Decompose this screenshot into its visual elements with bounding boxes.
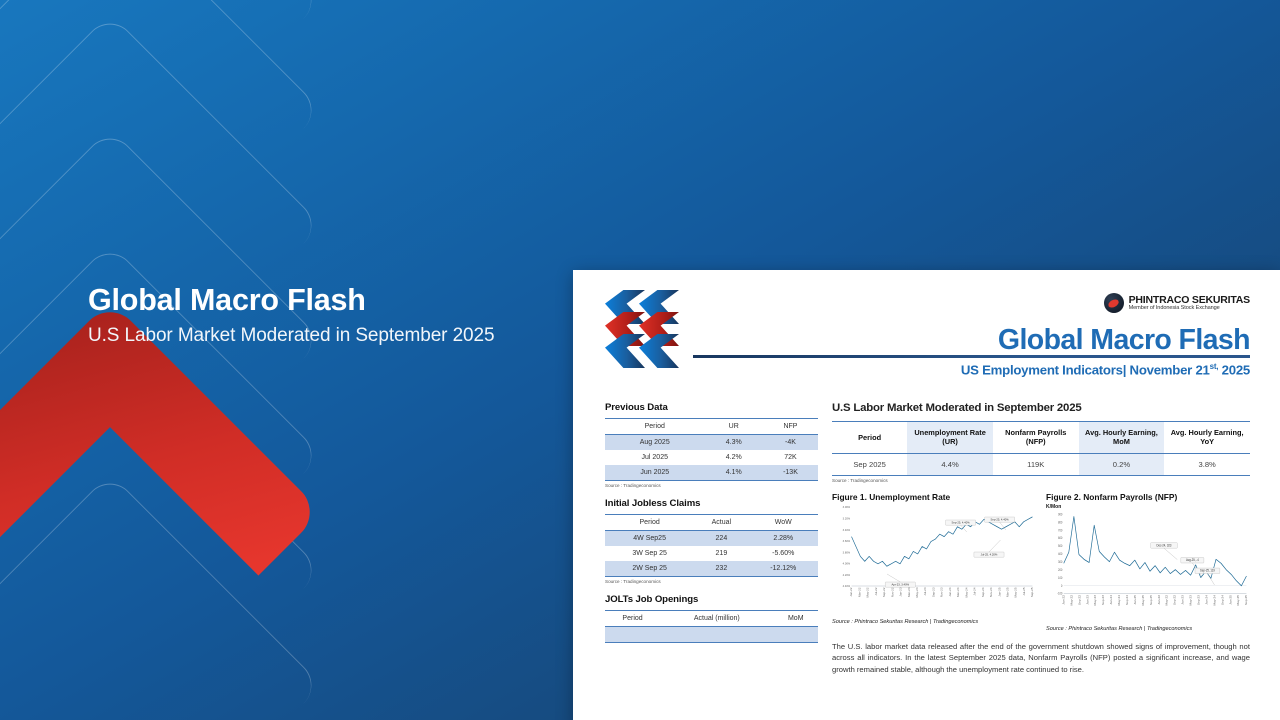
jobless-claims-title: Initial Jobless Claims	[605, 498, 818, 509]
cell: 0.2%	[1079, 453, 1165, 475]
figure-1-title: Figure 1. Unemployment Rate	[832, 492, 1036, 502]
cell: 224	[694, 531, 748, 547]
cell: 232	[694, 561, 748, 577]
svg-text:900: 900	[1058, 512, 1063, 516]
previous-data-source: Source : Tradingeconomics	[605, 483, 818, 488]
jobless-claims-source: Source : Tradingeconomics	[605, 579, 818, 584]
svg-text:May-23: May-23	[915, 587, 919, 597]
decorative-chevron-outline-2	[0, 0, 322, 322]
cell: 4.2%	[705, 450, 763, 465]
summary-table-source: Source : Tradingeconomics	[832, 478, 1250, 483]
slide-canvas: Global Macro Flash U.S Labor Market Mode…	[0, 0, 1280, 720]
svg-text:May-25: May-25	[1014, 587, 1018, 597]
svg-text:Mar-22: Mar-22	[858, 587, 862, 597]
col-header: Actual (million)	[660, 611, 773, 627]
col-header: WoW	[748, 515, 818, 531]
svg-text:May-23: May-23	[1094, 594, 1098, 605]
brand-tagline: Member of Indonesia Stock Exchange	[1129, 306, 1250, 312]
svg-text:Sep-24: Sep-24	[1221, 594, 1225, 605]
svg-text:Mar-23: Mar-23	[907, 587, 911, 597]
table-header-row: Period Unemployment Rate (UR) Nonfarm Pa…	[832, 422, 1250, 454]
cell: 3.8%	[1164, 453, 1250, 475]
cell: 219	[694, 546, 748, 561]
svg-text:Sep-23: Sep-23	[1101, 594, 1105, 605]
svg-text:4.00%: 4.00%	[843, 561, 851, 565]
svg-text:Jan-24: Jan-24	[1109, 594, 1113, 604]
jolts-title: JOLTs Job Openings	[605, 594, 818, 605]
report-headline: U.S Labor Market Moderated in September …	[832, 402, 1250, 414]
figure-1-source: Source : Phintraco Sekuritas Research | …	[832, 619, 1036, 625]
jobless-claims-table: Period Actual WoW 4W Sep252242.28% 3W Se…	[605, 514, 818, 577]
svg-text:Jul-25: Jul-25	[1022, 587, 1026, 596]
cell: -12.12%	[748, 561, 818, 577]
col-header: Nonfarm Payrolls (NFP)	[993, 422, 1079, 454]
cell: -5.60%	[748, 546, 818, 561]
col-header: NFP	[763, 419, 818, 435]
svg-text:Sep-23: Sep-23	[932, 587, 936, 597]
previous-data-table: Period UR NFP Aug 20254.3%-4K Jul 20254.…	[605, 418, 818, 481]
table-row: Jul 20254.2%72K	[605, 450, 818, 465]
svg-text:0: 0	[1061, 583, 1063, 587]
svg-text:Mar-24: Mar-24	[956, 587, 960, 597]
svg-text:Apr-23, 3.40%: Apr-23, 3.40%	[892, 582, 910, 586]
svg-text:Sep-25, 119: Sep-25, 119	[1200, 568, 1215, 572]
svg-text:Mar-25: Mar-25	[1006, 587, 1010, 597]
figure-2-source: Source : Phintraco Sekuritas Research | …	[1046, 626, 1250, 632]
svg-text:800: 800	[1058, 520, 1063, 524]
table-row: Aug 20254.3%-4K	[605, 435, 818, 451]
svg-text:Sep-24: Sep-24	[981, 587, 985, 597]
decorative-chevron-outline-6	[0, 358, 322, 720]
page-title: Global Macro Flash	[88, 283, 508, 319]
table-row: Sep 2025 4.4% 119K 0.2% 3.8%	[832, 453, 1250, 475]
document-body: Previous Data Period UR NFP Aug 20254.3%…	[605, 402, 1250, 676]
svg-text:3.80%: 3.80%	[843, 550, 851, 554]
table-row	[605, 627, 818, 643]
svg-text:Jan-23: Jan-23	[1086, 594, 1090, 604]
cell: 2.28%	[748, 531, 818, 547]
svg-text:Dec-24, 323: Dec-24, 323	[1156, 543, 1171, 547]
title-divider	[693, 355, 1250, 358]
figure-1-chart: 3.00%3.20%3.40%3.60%3.80%4.00%4.20%4.40%…	[832, 504, 1036, 616]
svg-text:4.20%: 4.20%	[843, 572, 851, 576]
svg-text:3.00%: 3.00%	[843, 505, 851, 509]
svg-text:Sep-22: Sep-22	[1078, 594, 1082, 605]
table-header-row: Period Actual (million) MoM	[605, 611, 818, 627]
cell: -4K	[763, 435, 818, 451]
cell: 72K	[763, 450, 818, 465]
svg-text:May-22: May-22	[1070, 594, 1074, 605]
right-column: U.S Labor Market Moderated in September …	[832, 402, 1250, 676]
col-header: Period	[832, 422, 907, 454]
table-header-row: Period UR NFP	[605, 419, 818, 435]
svg-text:Nov-23: Nov-23	[940, 587, 944, 597]
col-header: Period	[605, 419, 705, 435]
svg-text:Jul-22: Jul-22	[874, 587, 878, 596]
figures-row: Figure 1. Unemployment Rate 3.00%3.20%3.…	[832, 492, 1250, 632]
svg-text:Jan-22: Jan-22	[1062, 594, 1066, 604]
svg-text:May-23: May-23	[1189, 594, 1193, 605]
brand-lockup: PHINTRACO SEKURITAS Member of Indonesia …	[685, 292, 1250, 314]
summary-paragraph: The U.S. labor market data released afte…	[832, 641, 1250, 676]
svg-text:Sep-24: Sep-24	[1125, 594, 1129, 605]
cell: Sep 2025	[832, 453, 907, 475]
phintraco-chevron-logo-icon	[605, 290, 681, 370]
svg-text:Jan-22: Jan-22	[1157, 594, 1161, 604]
cell: 119K	[993, 453, 1079, 475]
col-header: UR	[705, 419, 763, 435]
cell	[774, 627, 818, 643]
decorative-chevron-outline-7	[0, 473, 322, 720]
svg-text:Sep-23: Sep-23	[1197, 594, 1201, 605]
svg-text:May-25: May-25	[1141, 594, 1145, 605]
document-title: Global Macro Flash	[685, 326, 1250, 355]
cell	[605, 627, 660, 643]
svg-text:300: 300	[1058, 559, 1063, 563]
cell: -13K	[763, 465, 818, 481]
document-subtitle-year: 2025	[1222, 362, 1250, 377]
left-column: Previous Data Period UR NFP Aug 20254.3%…	[605, 402, 818, 676]
svg-text:Sep-25, 4.40%: Sep-25, 4.40%	[991, 517, 1010, 521]
svg-text:100: 100	[1058, 575, 1063, 579]
document-subtitle-prefix: US Employment Indicators| November 21	[961, 362, 1210, 377]
jolts-table: Period Actual (million) MoM	[605, 610, 818, 643]
table-row: 2W Sep 25232-12.12%	[605, 561, 818, 577]
svg-text:3.40%: 3.40%	[843, 527, 851, 531]
svg-text:Jan-25: Jan-25	[1229, 594, 1233, 604]
svg-text:May-22: May-22	[866, 587, 870, 597]
table-row: 4W Sep252242.28%	[605, 531, 818, 547]
svg-text:3.60%: 3.60%	[843, 538, 851, 542]
svg-text:May-24: May-24	[965, 587, 969, 597]
col-header: Period	[605, 611, 660, 627]
svg-text:Jul-23: Jul-23	[923, 587, 927, 596]
page-subtitle: U.S Labor Market Moderated in September …	[88, 323, 508, 350]
svg-text:Sep-25, 4.40%: Sep-25, 4.40%	[952, 520, 971, 524]
col-header: Avg. Hourly Earning, YoY	[1164, 422, 1250, 454]
cell: Aug 2025	[605, 435, 705, 451]
cell: Jul 2025	[605, 450, 705, 465]
svg-text:Aug-25, -4: Aug-25, -4	[1186, 557, 1199, 561]
decorative-chevron-outline-1	[0, 0, 322, 212]
svg-text:Jul-24: Jul-24	[973, 587, 977, 596]
svg-text:May-24: May-24	[1213, 594, 1217, 605]
document-subtitle-sup: st,	[1210, 362, 1219, 371]
svg-text:700: 700	[1058, 528, 1063, 532]
svg-text:Jan-22: Jan-22	[849, 587, 853, 597]
summary-table: Period Unemployment Rate (UR) Nonfarm Pa…	[832, 421, 1250, 476]
svg-text:Sep-25: Sep-25	[1244, 594, 1248, 605]
svg-text:500: 500	[1058, 543, 1063, 547]
svg-text:200: 200	[1058, 567, 1063, 571]
hero-text-block: Global Macro Flash U.S Labor Market Mode…	[88, 283, 508, 350]
document-subtitle: US Employment Indicators| November 21st,…	[685, 362, 1250, 377]
col-header: Actual	[694, 515, 748, 531]
svg-text:Jan-25: Jan-25	[997, 587, 1001, 597]
phintraco-seal-icon	[1104, 293, 1124, 313]
svg-text:Sep-22: Sep-22	[1173, 594, 1177, 605]
cell: 4W Sep25	[605, 531, 694, 547]
svg-text:Sep-25: Sep-25	[1149, 594, 1153, 605]
document-header: PHINTRACO SEKURITAS Member of Indonesia …	[605, 292, 1250, 388]
svg-text:Nov-22: Nov-22	[891, 587, 895, 597]
col-header: Unemployment Rate (UR)	[907, 422, 993, 454]
svg-text:Jan-25: Jan-25	[1133, 594, 1137, 604]
decorative-chevron-red	[0, 300, 322, 720]
cell: 4.3%	[705, 435, 763, 451]
table-header-row: Period Actual WoW	[605, 515, 818, 531]
cell	[660, 627, 773, 643]
svg-text:Nov-24: Nov-24	[989, 587, 993, 597]
svg-text:Jan-24: Jan-24	[948, 587, 952, 597]
cell: 2W Sep 25	[605, 561, 694, 577]
cell: 4.4%	[907, 453, 993, 475]
figure-2-unit: K/Mon	[1046, 504, 1250, 510]
figure-2: Figure 2. Nonfarm Payrolls (NFP) K/Mon 9…	[1046, 492, 1250, 632]
figure-2-chart: 9008007006005004003002001000-100Jan-22Ma…	[1046, 511, 1250, 623]
table-row: Jun 20254.1%-13K	[605, 465, 818, 481]
cell: 4.1%	[705, 465, 763, 481]
document-preview-panel[interactable]: PHINTRACO SEKURITAS Member of Indonesia …	[573, 270, 1280, 720]
svg-text:400: 400	[1058, 551, 1063, 555]
svg-text:3.20%: 3.20%	[843, 516, 851, 520]
col-header: Period	[605, 515, 694, 531]
svg-text:Sep-25: Sep-25	[1030, 587, 1034, 597]
svg-text:600: 600	[1058, 535, 1063, 539]
decorative-chevron-outline-3	[0, 13, 322, 437]
figure-1: Figure 1. Unemployment Rate 3.00%3.20%3.…	[832, 492, 1036, 632]
table-row: 3W Sep 25219-5.60%	[605, 546, 818, 561]
previous-data-title: Previous Data	[605, 402, 818, 413]
cell: 3W Sep 25	[605, 546, 694, 561]
brand-name: PHINTRACO SEKURITAS	[1129, 295, 1250, 306]
col-header: MoM	[774, 611, 818, 627]
svg-text:May-22: May-22	[1165, 594, 1169, 605]
svg-text:Jul-25, 4.20%: Jul-25, 4.20%	[981, 552, 998, 556]
col-header: Avg. Hourly Earning, MoM	[1079, 422, 1165, 454]
svg-text:Jan-23: Jan-23	[899, 587, 903, 597]
svg-text:Sep-22: Sep-22	[882, 587, 886, 597]
figure-2-title: Figure 2. Nonfarm Payrolls (NFP)	[1046, 492, 1250, 502]
svg-text:Jan-24: Jan-24	[1205, 594, 1209, 604]
svg-text:May-24: May-24	[1117, 594, 1121, 605]
cell: Jun 2025	[605, 465, 705, 481]
svg-text:May-25: May-25	[1236, 594, 1240, 605]
svg-text:Jan-23: Jan-23	[1181, 594, 1185, 604]
